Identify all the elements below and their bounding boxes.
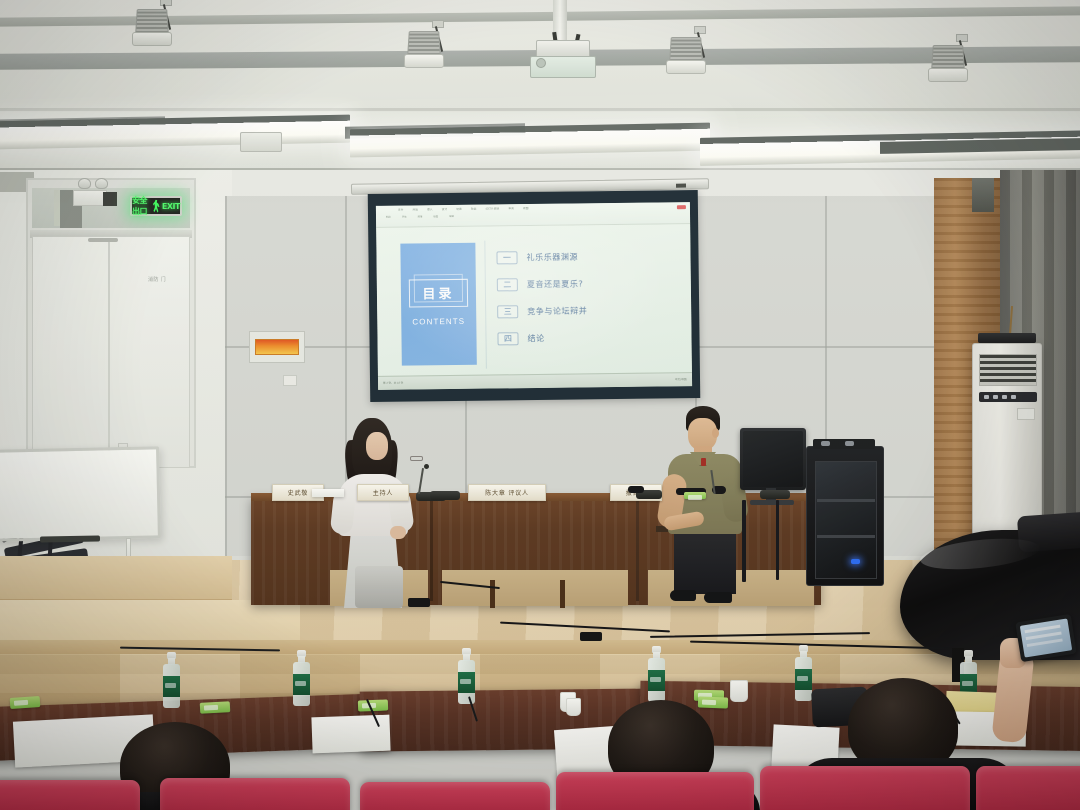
paper-document[interactable] xyxy=(311,715,390,754)
paper-cup[interactable] xyxy=(730,680,748,702)
exit-sign: 安全出口 EXIT xyxy=(130,196,182,216)
ribbon-tab[interactable]: 切换 xyxy=(456,207,462,211)
ac-label xyxy=(1017,408,1035,420)
audience-chair[interactable] xyxy=(976,766,1080,810)
door-sign-label: 消防 门 xyxy=(148,276,178,284)
door-handle[interactable] xyxy=(88,238,118,242)
spotlight-icon xyxy=(402,28,448,78)
exit-sign-cn-label: 安全出口 xyxy=(132,195,151,217)
ac-control-panel[interactable] xyxy=(979,392,1037,402)
audience-chair[interactable] xyxy=(360,782,550,810)
bag-under-table xyxy=(355,566,403,608)
legs xyxy=(674,532,736,594)
toc-label: 夏音还是夏乐? xyxy=(527,278,584,290)
powerpoint-status-bar: 第 2 张，共 18 张 中文(中国) xyxy=(378,372,692,390)
stage-step-upper xyxy=(0,556,232,602)
slide-title-en: CONTENTS xyxy=(401,317,476,327)
rack-shelf xyxy=(817,535,875,538)
audience-chair[interactable] xyxy=(160,778,350,810)
toc-label: 礼乐乐器渊源 xyxy=(526,251,578,263)
computer-monitor[interactable] xyxy=(740,428,806,490)
nameplate-text: 陈大章 评议人 xyxy=(485,488,529,497)
ceiling-projector xyxy=(530,40,596,80)
presenter-at-computer xyxy=(660,406,752,608)
ribbon-tab[interactable]: 视图 xyxy=(523,206,529,210)
ribbon-tabs: 文件 开始 插入 设计 切换 动画 幻灯片放映 审阅 视图 xyxy=(398,206,529,212)
audience-chair[interactable] xyxy=(0,780,140,810)
glasses-icon xyxy=(410,456,423,461)
spotlight-icon xyxy=(130,6,176,56)
toc-number: 二 xyxy=(497,278,518,291)
ribbon-tab[interactable]: 幻灯片放映 xyxy=(485,206,499,210)
table-under-gap xyxy=(442,570,628,606)
ribbon-group: 粘贴 xyxy=(386,215,391,219)
projection-screen: 文件 开始 插入 设计 切换 动画 幻灯片放映 审阅 视图 粘贴 字体 段落 绘… xyxy=(368,190,701,402)
shoe xyxy=(704,592,732,603)
power-led xyxy=(851,559,860,564)
cable-connector xyxy=(580,632,602,641)
water-bottle[interactable] xyxy=(163,652,180,708)
toc-item: 二 夏音还是夏乐? xyxy=(497,269,687,298)
emergency-light xyxy=(78,178,112,190)
door-split-line xyxy=(108,238,110,466)
slide-toc-list: 一 礼乐乐器渊源 二 夏音还是夏乐? 三 竞争与论坛辩并 四 结论 xyxy=(496,242,687,352)
toc-item: 一 礼乐乐器渊源 xyxy=(496,242,686,271)
nameplate-text: 史武敬 xyxy=(288,488,308,497)
spotlight-icon xyxy=(664,34,710,84)
ribbon-tab[interactable]: 动画 xyxy=(471,207,477,211)
green-packet[interactable] xyxy=(10,696,41,709)
table-seam xyxy=(636,501,639,601)
ribbon-tab[interactable]: 文件 xyxy=(398,208,404,212)
toc-number: 三 xyxy=(497,305,518,318)
paper-cup[interactable] xyxy=(566,698,581,716)
toc-label: 竞争与论坛辩并 xyxy=(527,305,587,317)
ribbon-group: 绘图 xyxy=(433,214,438,218)
rack-shelf xyxy=(817,499,875,502)
power-cable xyxy=(742,500,746,582)
mobile-whiteboard[interactable] xyxy=(0,446,161,541)
ribbon-group: 段落 xyxy=(418,214,423,218)
av-equipment-rack[interactable] xyxy=(806,446,884,586)
power-adapter xyxy=(408,598,430,607)
nameplate: 主持人 xyxy=(357,484,409,501)
toc-item: 四 结论 xyxy=(497,323,687,352)
lecture-hall-photo: 消防 门 安全出口 EXIT 文件 开始 插入 设计 切换 动画 幻灯片放映 xyxy=(0,0,1080,810)
ear xyxy=(712,428,719,438)
water-bottle[interactable] xyxy=(648,646,665,702)
running-person-icon xyxy=(153,200,160,213)
double-door[interactable] xyxy=(32,236,190,468)
toc-number: 一 xyxy=(496,251,517,264)
toc-item: 三 竞争与论坛辩并 xyxy=(497,296,687,325)
nameplate: 陈大章 评议人 xyxy=(468,484,546,501)
green-packet[interactable] xyxy=(684,492,706,499)
water-bottle[interactable] xyxy=(795,645,812,701)
slide-title-panel: 目录 CONTENTS xyxy=(400,243,476,366)
ribbon-group: 编辑 xyxy=(449,214,454,218)
hand xyxy=(390,526,406,539)
toc-label: 结论 xyxy=(527,333,544,344)
indicator-dot xyxy=(821,441,830,446)
ribbon-group: 字体 xyxy=(402,215,407,219)
wall-outlet[interactable] xyxy=(283,375,297,386)
microphone-head xyxy=(424,464,429,469)
water-bottle[interactable] xyxy=(293,650,310,706)
rack-glass-door[interactable] xyxy=(815,461,877,579)
monitor-base xyxy=(750,500,794,505)
water-bottle[interactable] xyxy=(458,648,475,704)
audience-chair[interactable] xyxy=(556,772,754,810)
slide-divider xyxy=(484,241,487,369)
device xyxy=(628,486,644,493)
projected-image: 文件 开始 插入 设计 切换 动画 幻灯片放映 审阅 视图 粘贴 字体 段落 绘… xyxy=(376,202,692,390)
exit-sign-label: EXIT xyxy=(162,202,180,211)
marker-tray xyxy=(40,535,100,542)
ceiling-seam xyxy=(0,108,1080,111)
phone-screen xyxy=(1020,618,1072,657)
ac-grille xyxy=(979,354,1037,386)
green-packet[interactable] xyxy=(200,701,231,714)
slide-counter: 第 2 张，共 18 张 xyxy=(383,381,403,385)
indicator-dot xyxy=(845,441,854,446)
lapel-badge xyxy=(701,458,706,466)
microphone-base[interactable] xyxy=(430,491,460,500)
table-leg xyxy=(560,580,565,608)
slide-canvas: 目录 CONTENTS 一 礼乐乐器渊源 二 夏音还是夏乐? 三 竞争与 xyxy=(376,224,692,376)
ribbon-tab[interactable]: 设计 xyxy=(442,207,448,211)
wall-speaker xyxy=(972,178,994,212)
slide-title-cn: 目录 xyxy=(401,283,476,303)
table-seam xyxy=(430,501,433,601)
green-packet[interactable] xyxy=(698,696,728,708)
spotlight-icon xyxy=(926,42,972,92)
power-cable xyxy=(776,500,779,580)
ribbon-tab[interactable]: 插入 xyxy=(427,207,433,211)
device-on-ac xyxy=(978,333,1036,343)
ribbon-tab[interactable]: 审阅 xyxy=(508,206,514,210)
table-leg xyxy=(490,580,495,608)
nameplate-text: 主持人 xyxy=(373,488,393,497)
ribbon-groups: 粘贴 字体 段落 绘图 编辑 xyxy=(386,214,454,219)
wall-mounted-sensor xyxy=(103,192,117,206)
fire-equipment-sign xyxy=(249,331,305,363)
language-indicator: 中文(中国) xyxy=(675,377,687,381)
toc-number: 四 xyxy=(497,332,518,345)
face xyxy=(366,432,388,460)
shoe xyxy=(670,590,696,601)
ceiling-vent xyxy=(240,132,282,152)
wall-mounted-box xyxy=(73,190,107,206)
close-icon[interactable] xyxy=(677,205,686,209)
ribbon-tab[interactable]: 开始 xyxy=(413,207,419,211)
audience-chair[interactable] xyxy=(760,766,970,810)
microphone-base[interactable] xyxy=(760,490,790,499)
paper-document[interactable] xyxy=(312,489,344,497)
